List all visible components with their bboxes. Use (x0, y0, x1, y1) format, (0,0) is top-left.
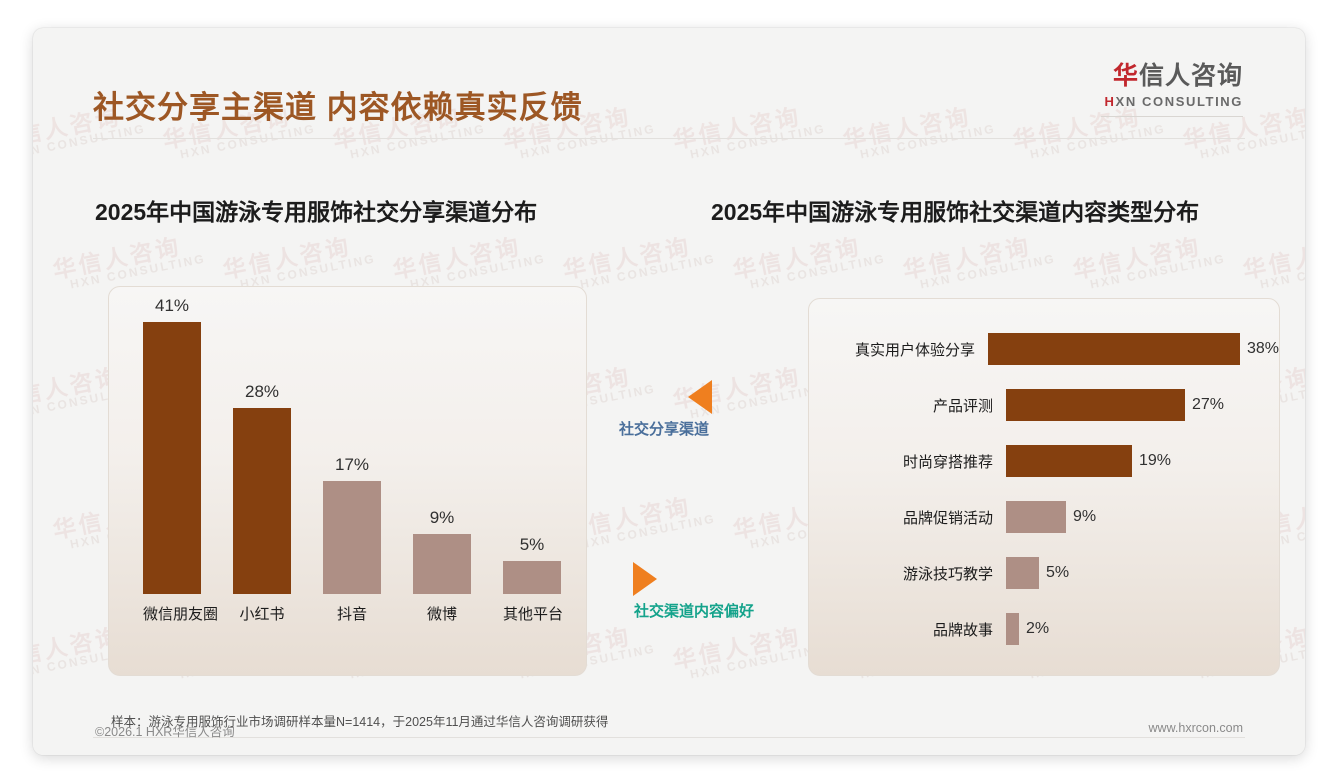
bar-track: 9% (1006, 501, 1279, 533)
bar-row-value: 38% (1247, 340, 1279, 358)
bar-row-label: 真实用户体验分享 (809, 339, 988, 360)
header-divider (93, 138, 1245, 139)
bar-row: 品牌促销活动9% (809, 489, 1279, 545)
column-bar (413, 534, 471, 594)
bar-fill (1006, 389, 1185, 421)
company-logo: 华信人咨询 HXN CONSULTING (1101, 56, 1243, 117)
bar-row-label: 品牌故事 (809, 619, 1006, 640)
column-bar-value: 41% (143, 296, 201, 316)
column-bar-item: 28%小红书 (233, 382, 291, 624)
logo-underline (1101, 116, 1243, 117)
watermark-text: 华信人咨询HXN CONSULTING (1071, 229, 1227, 296)
logo-cn-accent: 华 (1113, 62, 1139, 90)
connector-content-preference: 社交渠道内容偏好 (633, 562, 755, 621)
bar-row-label: 产品评测 (809, 395, 1006, 416)
bar-fill (1006, 501, 1066, 533)
bar-track: 19% (1006, 445, 1279, 477)
connector-top-label: 社交分享渠道 (619, 418, 709, 439)
connector-bottom-label: 社交渠道内容偏好 (634, 600, 754, 621)
column-chart: 41%微信朋友圈28%小红书17%抖音9%微博5%其他平台 (109, 287, 586, 675)
bar-row-label: 时尚穿搭推荐 (809, 451, 1006, 472)
logo-en-accent: H (1105, 94, 1116, 109)
triangle-right-icon (633, 562, 657, 596)
bar-fill (1006, 445, 1132, 477)
logo-en-rest: XN CONSULTING (1116, 94, 1243, 109)
left-chart-title: 2025年中国游泳专用服饰社交分享渠道分布 (95, 193, 537, 227)
column-bar-item: 5%其他平台 (503, 535, 561, 624)
right-chart-title: 2025年中国游泳专用服饰社交渠道内容类型分布 (711, 193, 1199, 227)
bar-row-value: 5% (1046, 564, 1069, 582)
column-bar-value: 9% (413, 508, 471, 528)
slide-header: 社交分享主渠道 内容依赖真实反馈 华信人咨询 HXN CONSULTING (33, 28, 1305, 132)
watermark-text: 华信人咨询HXN CONSULTING (1241, 229, 1305, 296)
bar-row-label: 游泳技巧教学 (809, 563, 1006, 584)
bar-row: 游泳技巧教学5% (809, 545, 1279, 601)
bar-fill (988, 333, 1240, 365)
page-title: 社交分享主渠道 内容依赖真实反馈 (93, 82, 583, 127)
triangle-left-icon (688, 380, 712, 414)
column-bar-label: 其他平台 (503, 603, 561, 624)
left-chart-panel: 41%微信朋友圈28%小红书17%抖音9%微博5%其他平台 (108, 286, 587, 676)
right-chart-panel: 真实用户体验分享38%产品评测27%时尚穿搭推荐19%品牌促销活动9%游泳技巧教… (808, 298, 1280, 676)
horizontal-bar-chart: 真实用户体验分享38%产品评测27%时尚穿搭推荐19%品牌促销活动9%游泳技巧教… (809, 321, 1279, 657)
bar-row-value: 19% (1139, 452, 1171, 470)
column-bar-item: 17%抖音 (323, 455, 381, 624)
copyright-text: ©2026.1 HXR华信人咨询 (95, 721, 235, 740)
bar-row-value: 9% (1073, 508, 1096, 526)
logo-cn-rest: 信人咨询 (1139, 62, 1243, 90)
column-bar-label: 微博 (413, 603, 471, 624)
column-bar-label: 抖音 (323, 603, 381, 624)
column-bar-item: 41%微信朋友圈 (143, 296, 201, 624)
bar-fill (1006, 613, 1019, 645)
column-bar-value: 28% (233, 382, 291, 402)
column-bar (503, 561, 561, 594)
bar-fill (1006, 557, 1039, 589)
bar-row-value: 27% (1192, 396, 1224, 414)
column-bar-label: 小红书 (233, 603, 291, 624)
watermark-text: 华信人咨询HXN CONSULTING (901, 229, 1057, 296)
bar-row: 时尚穿搭推荐19% (809, 433, 1279, 489)
column-bar-value: 5% (503, 535, 561, 555)
footer-divider (93, 737, 1245, 738)
bar-track: 5% (1006, 557, 1279, 589)
watermark-text: 华信人咨询HXN CONSULTING (671, 619, 827, 686)
column-bar-label: 微信朋友圈 (143, 603, 201, 624)
watermark-text: 华信人咨询HXN CONSULTING (561, 229, 717, 296)
bar-row: 真实用户体验分享38% (809, 321, 1279, 377)
column-bar-item: 9%微博 (413, 508, 471, 624)
connector-social-share-channel: 社交分享渠道 (616, 380, 712, 439)
bar-row-label: 品牌促销活动 (809, 507, 1006, 528)
website-url: www.hxrcon.com (1149, 721, 1243, 735)
column-bar (233, 408, 291, 594)
column-bar-value: 17% (323, 455, 381, 475)
bar-track: 27% (1006, 389, 1279, 421)
logo-english-text: HXN CONSULTING (1101, 94, 1243, 109)
bar-row-value: 2% (1026, 620, 1049, 638)
column-bar (323, 481, 381, 594)
bar-track: 38% (988, 333, 1279, 365)
bar-row: 品牌故事2% (809, 601, 1279, 657)
slide-card: 华信人咨询HXN CONSULTING华信人咨询HXN CONSULTING华信… (33, 28, 1305, 755)
logo-chinese-text: 华信人咨询 (1101, 56, 1243, 92)
bar-row: 产品评测27% (809, 377, 1279, 433)
bar-track: 2% (1006, 613, 1279, 645)
watermark-text: 华信人咨询HXN CONSULTING (731, 229, 887, 296)
column-bar (143, 322, 201, 594)
